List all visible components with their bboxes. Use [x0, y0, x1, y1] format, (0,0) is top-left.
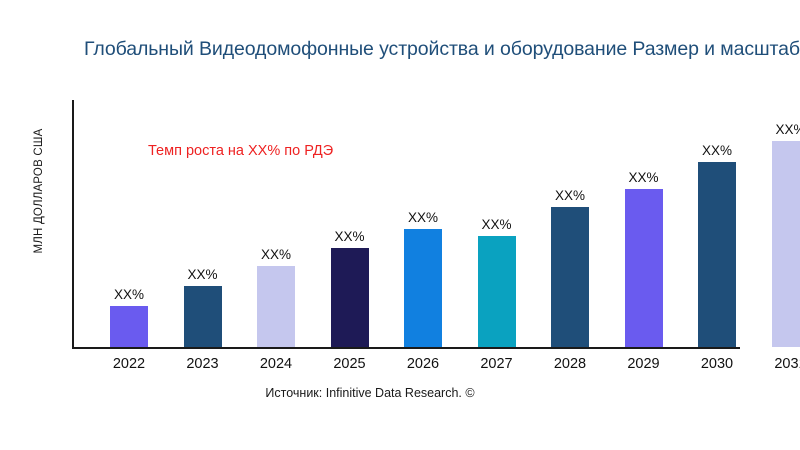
y-axis-title: МЛН ДОЛЛАРОВ США [33, 91, 45, 291]
x-tick-label-2025: 2025 [317, 356, 383, 372]
bar-2029 [625, 189, 663, 347]
bar-value-label-2031: XX% [758, 122, 800, 137]
chart-container: Глобальный Видеодомофонные устройства и … [0, 0, 800, 450]
chart-title: Глобальный Видеодомофонные устройства и … [84, 36, 800, 62]
bar-value-label-2024: XX% [243, 247, 309, 262]
bar-value-label-2023: XX% [170, 267, 236, 282]
bar-value-label-2026: XX% [390, 210, 456, 225]
x-tick-label-2028: 2028 [537, 356, 603, 372]
bar-value-label-2030: XX% [684, 143, 750, 158]
bar-2026 [404, 229, 442, 347]
x-tick-label-2022: 2022 [96, 356, 162, 372]
growth-rate-annotation: Темп роста на XX% по РДЭ [148, 143, 333, 159]
bar-2023 [184, 286, 222, 347]
bar-2027 [478, 236, 516, 347]
bar-value-label-2029: XX% [611, 170, 677, 185]
x-tick-label-2027: 2027 [464, 356, 530, 372]
x-tick-label-2023: 2023 [170, 356, 236, 372]
bar-2025 [331, 248, 369, 347]
plot-area: XX%XX%XX%XX%XX%XX%XX%XX%XX%XX% 202220232… [72, 100, 800, 348]
x-tick-label-2029: 2029 [611, 356, 677, 372]
bar-2031 [772, 141, 800, 347]
bar-value-label-2025: XX% [317, 229, 383, 244]
x-tick-label-2024: 2024 [243, 356, 309, 372]
bar-2028 [551, 207, 589, 347]
source-note: Источник: Infinitive Data Research. © [0, 386, 740, 400]
bar-2030 [698, 162, 736, 347]
bar-2024 [257, 266, 295, 347]
x-tick-label-2026: 2026 [390, 356, 456, 372]
bar-value-label-2028: XX% [537, 188, 603, 203]
x-tick-label-2030: 2030 [684, 356, 750, 372]
y-axis-line [72, 100, 74, 348]
bar-value-label-2027: XX% [464, 217, 530, 232]
x-tick-label-2031: 2031 [758, 356, 800, 372]
bar-2022 [110, 306, 148, 347]
bar-value-label-2022: XX% [96, 287, 162, 302]
x-axis-line [72, 347, 740, 349]
